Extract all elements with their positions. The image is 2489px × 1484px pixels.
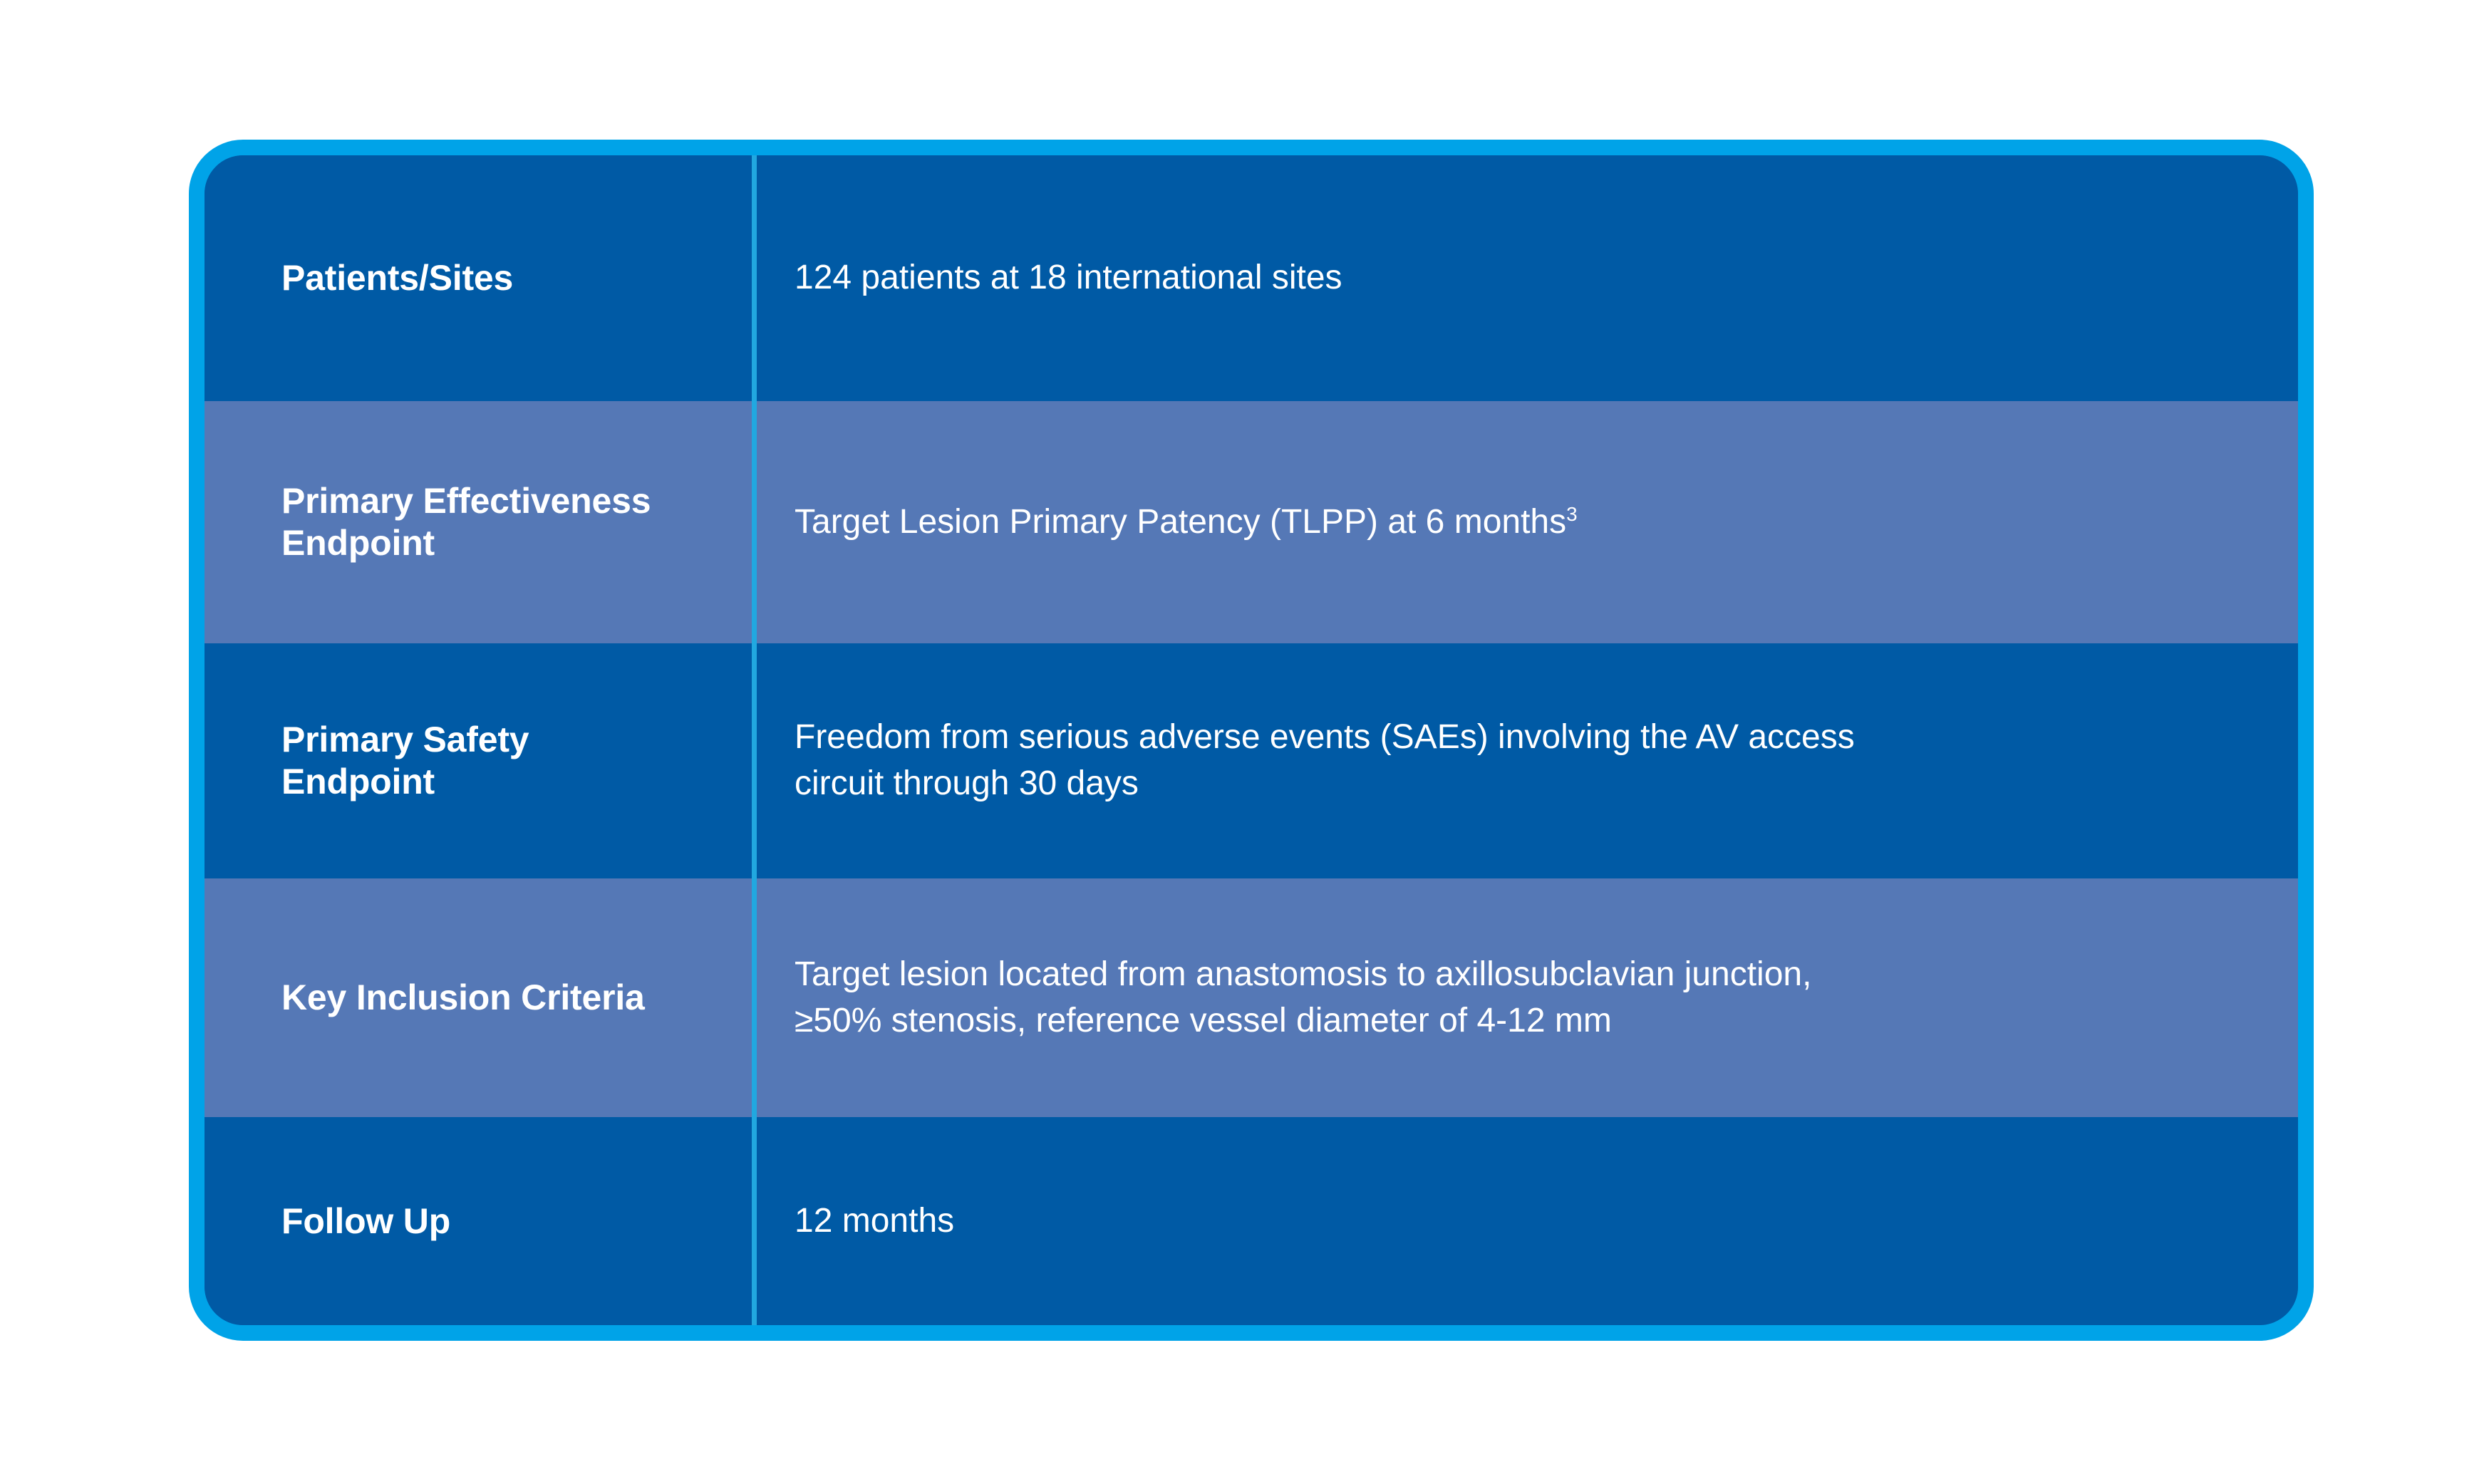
value-line: circuit through 30 days [795,761,2255,807]
value-line: Target Lesion Primary Patency (TLPP) at … [795,499,2255,546]
row-value-primary-safety-endpoint: Freedom from serious adverse events (SAE… [752,643,2298,878]
row-value-key-inclusion-criteria: Target lesion located from anastomosis t… [752,878,2298,1117]
table-row: Follow Up 12 months [205,1117,2298,1325]
footnote-marker: 3 [1566,503,1577,525]
label-line: Patients/Sites [281,257,730,299]
row-label-patients-sites: Patients/Sites [205,155,752,401]
row-value-follow-up: 12 months [752,1117,2298,1325]
row-value-patients-sites: 124 patients at 18 international sites [752,155,2298,401]
row-label-key-inclusion-criteria: Key Inclusion Criteria [205,878,752,1117]
label-line: Primary Safety [281,719,730,761]
value-line: Freedom from serious adverse events (SAE… [795,715,2255,761]
card-inner: Patients/Sites 124 patients at 18 intern… [205,155,2298,1325]
page-canvas: Patients/Sites 124 patients at 18 intern… [0,0,2489,1484]
value-line: Target lesion located from anastomosis t… [795,952,2255,998]
row-label-follow-up: Follow Up [205,1117,752,1325]
row-label-primary-effectiveness-endpoint: Primary Effectiveness Endpoint [205,401,752,643]
table-row: Primary Effectiveness Endpoint Target Le… [205,401,2298,643]
table-row: Primary Safety Endpoint Freedom from ser… [205,643,2298,878]
label-line: Follow Up [281,1200,730,1242]
study-summary-card: Patients/Sites 124 patients at 18 intern… [189,140,2314,1341]
label-line: Primary Effectiveness [281,480,730,522]
table-row: Key Inclusion Criteria Target lesion loc… [205,878,2298,1117]
value-line: 12 months [795,1198,2255,1245]
label-line: Endpoint [281,522,730,564]
row-label-primary-safety-endpoint: Primary Safety Endpoint [205,643,752,878]
value-text: Target Lesion Primary Patency (TLPP) at … [795,503,1566,541]
label-line: Key Inclusion Criteria [281,977,730,1019]
label-line: Endpoint [281,761,730,803]
value-line: 124 patients at 18 international sites [795,255,2255,301]
table-row: Patients/Sites 124 patients at 18 intern… [205,155,2298,401]
value-line: ≥50% stenosis, reference vessel diameter… [795,998,2255,1044]
row-value-primary-effectiveness-endpoint: Target Lesion Primary Patency (TLPP) at … [752,401,2298,643]
